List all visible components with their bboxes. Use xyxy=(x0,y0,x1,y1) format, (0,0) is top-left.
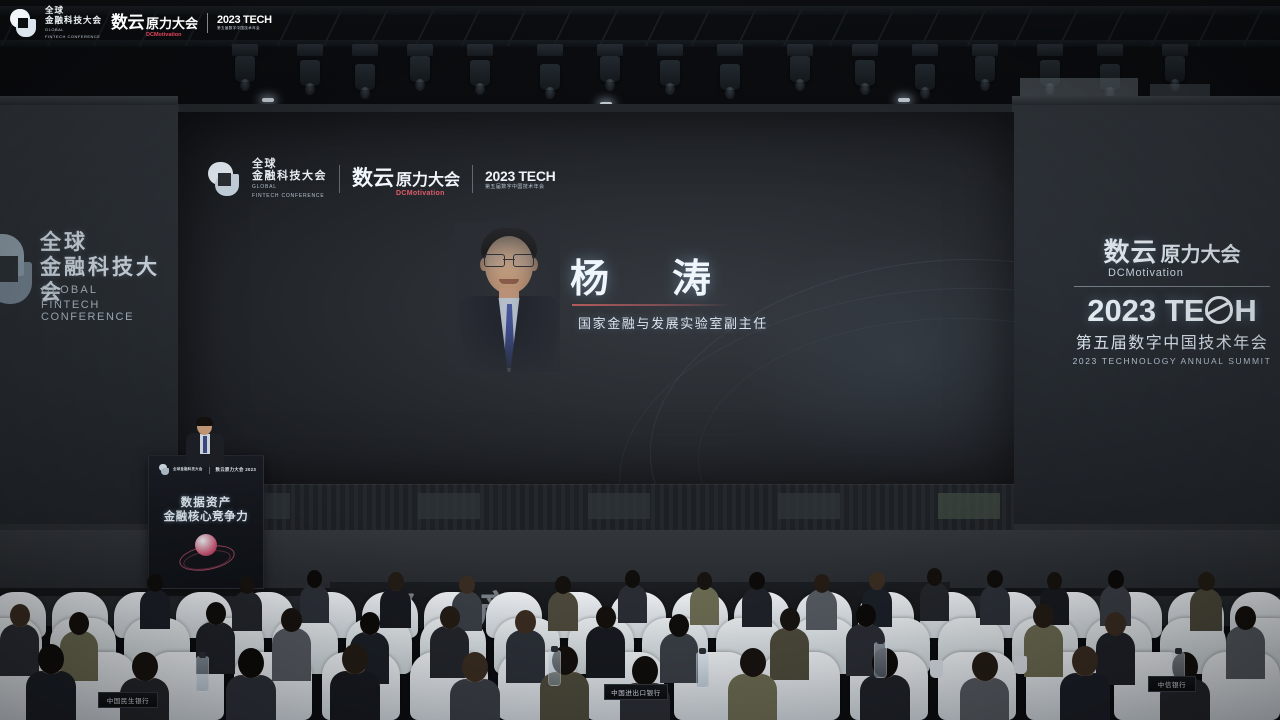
audience-member xyxy=(226,648,276,720)
screen-logo-divider xyxy=(472,165,473,193)
stage-light-yoke xyxy=(467,44,493,56)
stage-light xyxy=(410,56,430,82)
podium-event-logo: 数云原力大会 2023 xyxy=(216,467,257,473)
stage-light xyxy=(975,56,995,82)
audience-member xyxy=(742,572,772,625)
audience-head xyxy=(856,604,876,627)
fintech-logo-mark xyxy=(208,162,240,196)
watermark-event-en: DCMotivation xyxy=(146,32,198,38)
audience-torso xyxy=(1024,624,1063,677)
audience-head xyxy=(1033,604,1054,628)
stage-light xyxy=(235,56,255,82)
stage-light xyxy=(790,56,810,82)
audience-torso xyxy=(140,589,170,629)
stage-light-yoke xyxy=(407,44,433,56)
speaker-portrait xyxy=(455,222,560,372)
portrait-vignette xyxy=(455,222,560,372)
nameplate-label: 中信银行 xyxy=(1158,679,1186,689)
audience-nameplate: 中国进出口银行 xyxy=(604,684,668,700)
right-wall-cn-b: 原力大会 xyxy=(1161,238,1241,267)
stage-light xyxy=(470,60,490,86)
watermark-year-lockup: 2023 TECH 第五届数字中国技术年会 xyxy=(217,14,272,31)
stage-light xyxy=(355,64,375,90)
lower-wall-panel xyxy=(588,493,650,519)
podium-title-line2: 金融核心竞争力 xyxy=(149,508,263,524)
stage-light xyxy=(855,60,875,86)
screen-year-sub: 第五届数字中国技术年会 xyxy=(485,184,544,191)
fintech-logo-mark xyxy=(0,234,34,306)
audience-head xyxy=(1235,606,1256,630)
audience-head xyxy=(1108,570,1124,589)
left-wall-brand-en1: GLOBAL xyxy=(41,284,98,296)
watermark-event-cn-b: 原力大会 xyxy=(146,13,198,32)
audience-head xyxy=(669,614,689,637)
stage-light-yoke xyxy=(232,44,258,56)
fintech-logo-mark xyxy=(10,9,36,37)
audience-torso xyxy=(860,675,910,720)
audience-member xyxy=(1190,572,1222,628)
audience-head xyxy=(238,648,264,678)
audience-head xyxy=(740,648,766,677)
audience-member xyxy=(232,576,262,629)
screen-logo-en2: FINTECH CONFERENCE xyxy=(252,193,327,200)
stage-light xyxy=(600,56,620,82)
audience-torso xyxy=(806,589,837,630)
water-bottle xyxy=(874,642,887,678)
stage-light xyxy=(915,64,935,90)
nameplate-label: 中国民生银行 xyxy=(107,695,150,705)
conference-stage-photo: 全球 金融科技大会 GLOBAL FINTECH CONFERENCE 数云 原… xyxy=(0,0,1280,720)
podium-logo-cn: 全球金融科技大会 xyxy=(173,467,203,471)
tech-text-left: 2023 TE xyxy=(1087,293,1204,328)
audience-torso xyxy=(1226,626,1265,679)
audience-torso xyxy=(272,628,311,681)
stage-light-yoke xyxy=(787,44,813,56)
stage-light-yoke xyxy=(352,44,378,56)
broadcast-watermark: 全球 金融科技大会 GLOBAL FINTECH CONFERENCE 数云 原… xyxy=(10,6,272,39)
left-wall-brand-en2: FINTECH CONFERENCE xyxy=(41,299,170,323)
audience-head xyxy=(281,608,302,632)
right-wall-cn-sub: 第五届数字中国技术年会 xyxy=(1062,329,1280,353)
audience-head xyxy=(596,606,616,629)
screen-event-en: DCMotivation xyxy=(396,190,460,197)
audience-head xyxy=(625,570,640,588)
audience-torso xyxy=(232,591,262,631)
audience-member xyxy=(920,568,949,620)
truss-beam-lower xyxy=(0,40,1280,47)
stage-light xyxy=(720,64,740,90)
audience-member xyxy=(140,574,170,627)
wall-trim-strip xyxy=(1012,96,1280,105)
audience-member xyxy=(1060,646,1110,720)
watermark-fintech-text: 全球 金融科技大会 GLOBAL FINTECH CONFERENCE xyxy=(45,6,102,39)
audience-head xyxy=(342,644,368,674)
stage-light-yoke xyxy=(1162,44,1188,56)
audience-head xyxy=(697,572,712,590)
stage-light-yoke xyxy=(597,44,623,56)
audience-head xyxy=(132,652,158,681)
audience-head xyxy=(10,604,30,627)
stage-light-yoke xyxy=(1097,44,1123,56)
watermark-divider xyxy=(207,13,208,33)
ceiling-light-glow xyxy=(898,98,910,102)
audience-head xyxy=(814,574,830,593)
stage-light xyxy=(1165,56,1185,82)
nameplate-label: 中国进出口银行 xyxy=(611,687,661,697)
screen-logo-bar: 全球 金融科技大会 GLOBAL FINTECH CONFERENCE 数云 原… xyxy=(208,158,555,200)
stage-light-yoke xyxy=(717,44,743,56)
audience-torso xyxy=(728,674,777,720)
ceiling-light-glow xyxy=(262,98,274,102)
audience-member xyxy=(120,652,169,720)
paper-cup xyxy=(1014,656,1027,674)
stage-light-yoke xyxy=(852,44,878,56)
audience-head xyxy=(459,576,475,594)
audience-member xyxy=(728,648,777,720)
audience-member xyxy=(548,576,578,629)
audience-torso xyxy=(960,678,1009,720)
screen-event-logo: 数云 原力大会 DCMotivation xyxy=(352,162,460,197)
lower-wall-panel xyxy=(418,493,480,519)
speaker-name-underline xyxy=(572,304,730,306)
audience-torso xyxy=(1190,588,1222,631)
audience-head xyxy=(632,656,658,686)
lower-wall-panel xyxy=(938,493,1000,519)
audience-head xyxy=(927,568,942,586)
screen-event-cn-b: 原力大会 xyxy=(396,166,460,190)
stage-light xyxy=(300,60,320,86)
left-wall-brand-lockup: 全球 金融科技大会 GLOBAL FINTECH CONFERENCE xyxy=(0,228,170,323)
watermark-brand-en1: GLOBAL xyxy=(45,27,102,33)
paper-cup xyxy=(930,660,943,678)
audience-head xyxy=(1198,572,1215,591)
stage-light-yoke xyxy=(537,44,563,56)
speaker-at-podium xyxy=(186,418,224,464)
audience-head xyxy=(360,612,380,635)
screen-logo-divider xyxy=(339,165,340,193)
screen-logo-en1: GLOBAL xyxy=(252,184,327,191)
screen-year-lockup: 2023 TECH 第五届数字中国技术年会 xyxy=(485,168,555,191)
audience-head xyxy=(69,612,89,635)
watermark-year-sub: 第五届数字中国技术年会 xyxy=(217,26,272,31)
audience-head xyxy=(515,610,536,634)
audience-torso xyxy=(226,675,276,720)
audience-torso xyxy=(980,585,1010,625)
wall-trim-strip xyxy=(0,96,178,105)
audience-member xyxy=(330,644,380,720)
stage-light-yoke xyxy=(972,44,998,56)
audience-head xyxy=(1072,646,1098,676)
lower-wall-panel xyxy=(778,493,840,519)
audience-nameplate: 中信银行 xyxy=(1148,676,1196,692)
audience-head xyxy=(972,652,998,681)
lower-wall-louvre xyxy=(178,484,1014,533)
audience-member xyxy=(980,570,1010,623)
screen-logo-cn1: 全球 xyxy=(252,158,327,170)
tech-c-glyph-icon xyxy=(1205,296,1233,324)
audience-torso xyxy=(548,591,578,631)
audience-head xyxy=(388,572,404,591)
watermark-brand-en2: FINTECH CONFERENCE xyxy=(45,34,102,40)
audience-torso xyxy=(330,671,380,720)
water-bottle xyxy=(696,652,709,688)
audience-member xyxy=(272,608,311,678)
watermark-event-logo: 数云 原力大会 DCMotivation xyxy=(111,8,198,38)
audience-head xyxy=(1047,572,1062,590)
speaker-name: 杨 涛 xyxy=(570,248,737,304)
audience-head xyxy=(869,572,885,590)
right-wall-cn-a: 数云 xyxy=(1103,232,1157,269)
stage-light xyxy=(540,64,560,90)
audience-member xyxy=(450,652,500,720)
audience-head xyxy=(440,606,460,629)
water-bottle xyxy=(548,650,561,686)
audience-head xyxy=(1105,612,1126,636)
right-wall-en-sub: 2023 TECHNOLOGY ANNUAL SUMMIT xyxy=(1062,356,1280,366)
stage-light-yoke xyxy=(1037,44,1063,56)
stage-light xyxy=(660,60,680,86)
fintech-logo-mark xyxy=(159,464,169,475)
tech-text-right: H xyxy=(1234,293,1256,328)
audience-member xyxy=(26,644,76,720)
audience-torso xyxy=(742,587,772,627)
audience-torso xyxy=(26,671,76,720)
audience-head xyxy=(555,576,571,594)
watermark-event-cn-a: 数云 xyxy=(111,8,144,33)
screen-fintech-text: 全球 金融科技大会 GLOBAL FINTECH CONFERENCE xyxy=(252,158,327,200)
screen-logo-cn2: 金融科技大会 xyxy=(252,170,327,182)
audience-area: 中国民生银行中国进出口银行中信银行 xyxy=(0,556,1280,720)
water-bottle xyxy=(196,656,209,692)
right-wall-tech-title: 2023 TEH xyxy=(1062,293,1280,328)
audience-head xyxy=(462,652,488,682)
audience-head xyxy=(206,602,226,625)
right-wall-brand-lockup: 数云 原力大会 DCMotivation 2023 TEH 第五届数字中国技术年… xyxy=(1062,232,1280,366)
audience-member xyxy=(806,574,837,629)
stage-light-yoke xyxy=(912,44,938,56)
audience-head xyxy=(147,574,163,592)
right-wall-divider xyxy=(1074,286,1270,287)
audience-torso xyxy=(450,679,500,720)
audience-member xyxy=(1024,604,1063,674)
watermark-year: 2023 TECH xyxy=(217,14,272,26)
screen-year: 2023 TECH xyxy=(485,168,555,184)
audience-torso xyxy=(1060,673,1110,720)
audience-head xyxy=(239,576,255,594)
stage-light-yoke xyxy=(297,44,323,56)
audience-member xyxy=(960,652,1009,720)
audience-head xyxy=(307,570,322,588)
right-wall-en: DCMotivation xyxy=(1108,267,1280,279)
audience-torso xyxy=(920,582,949,621)
stage-light-yoke xyxy=(657,44,683,56)
audience-head xyxy=(780,608,800,631)
speaker-title: 国家金融与发展实验室副主任 xyxy=(578,313,768,332)
audience-member xyxy=(1226,606,1265,676)
audience-head xyxy=(38,644,64,674)
audience-nameplate: 中国民生银行 xyxy=(98,692,158,708)
audience-head xyxy=(749,572,765,590)
audience-head xyxy=(987,570,1003,588)
watermark-brand-cn2: 金融科技大会 xyxy=(45,16,102,26)
screen-event-cn-a: 数云 xyxy=(352,162,394,192)
